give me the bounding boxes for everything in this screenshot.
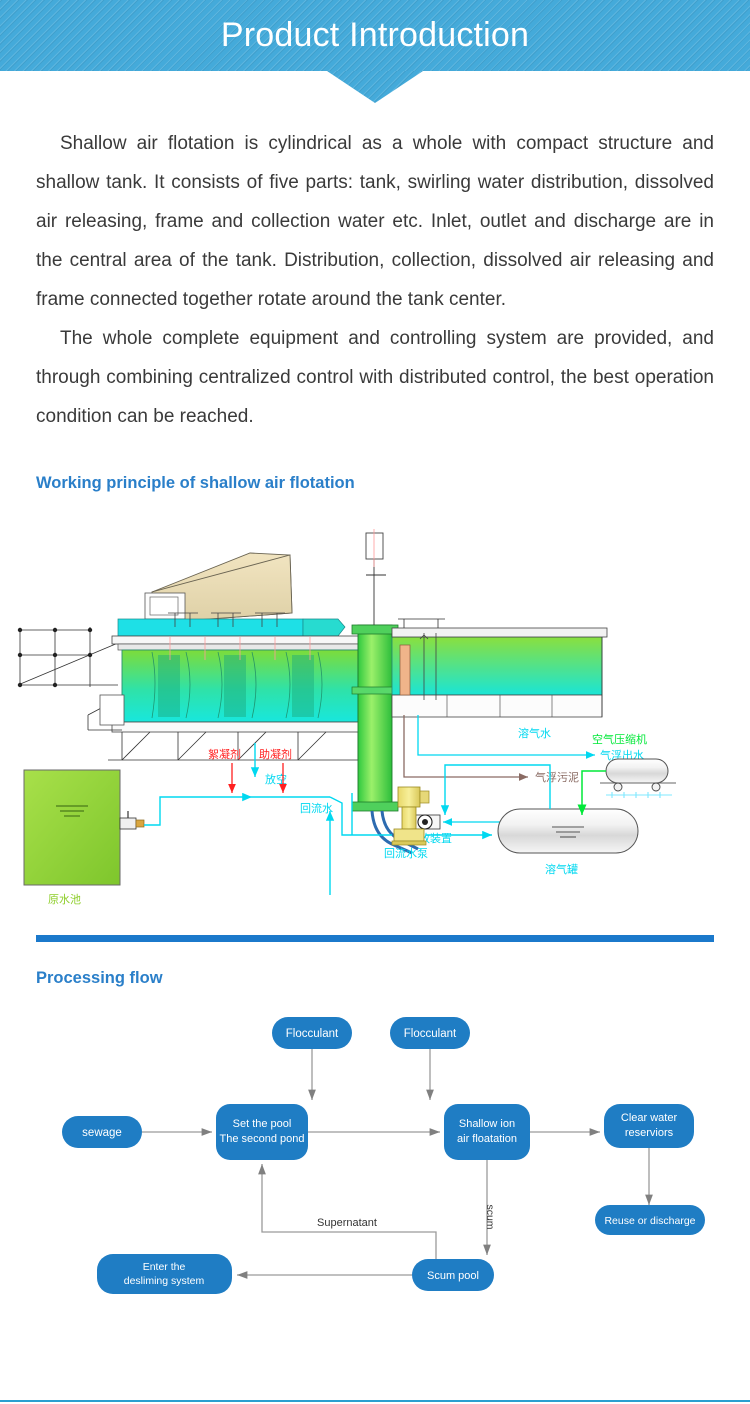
flow-node-label: Reuse or discharge [604, 1215, 695, 1227]
processing-flow-diagram: scum Supernatant sewage Set the pool The… [0, 1004, 750, 1324]
label-vent: 放空 [265, 772, 287, 786]
flow-node-label: Scum pool [427, 1270, 479, 1282]
label-return-water: 回流水 [300, 801, 333, 815]
intro-paragraph-2: The whole complete equipment and control… [36, 319, 714, 436]
flow-node-clear-water-reserviors[interactable]: Clear water reserviors [604, 1104, 694, 1148]
intro-text-block: Shallow air flotation is cylindrical as … [36, 124, 714, 436]
flow-node-label-line2: desliming system [124, 1275, 205, 1287]
label-coagulant-aid-cn: 助凝剂 [259, 747, 292, 761]
flow-node-set-the-pool[interactable]: Set the pool The second pond [216, 1104, 308, 1160]
air-compressor-icon [600, 759, 676, 798]
flow-node-label: sewage [82, 1127, 122, 1139]
flow-node-label-line2: The second pond [219, 1133, 304, 1145]
label-air-compressor: 空气压缩机 [592, 732, 647, 746]
flow-node-label-line1: Set the pool [233, 1118, 292, 1130]
principle-diagram-svg: 放空 气浮出水 气浮污泥 回流水 释放装置 原水池 [0, 515, 750, 935]
working-principle-heading: Working principle of shallow air flotati… [36, 474, 750, 493]
edge-label-scum: scum [484, 1204, 496, 1229]
flow-node-reuse-or-discharge[interactable]: Reuse or discharge [595, 1205, 705, 1235]
flow-node-flocculant-2[interactable]: Flocculant [390, 1017, 470, 1049]
processing-flow-svg: scum Supernatant sewage Set the pool The… [0, 1004, 750, 1324]
label-sludge: 气浮污泥 [535, 770, 579, 784]
flow-node-shallow-ion-air-floatation[interactable]: Shallow ion air floatation [444, 1104, 530, 1160]
label-dissolved-air-tank: 溶气罐 [545, 862, 578, 876]
processing-flow-heading: Processing flow [36, 969, 750, 988]
principle-diagram: 放空 气浮出水 气浮污泥 回流水 释放装置 原水池 [0, 515, 750, 935]
label-flocculant-cn: 絮凝剂 [208, 747, 241, 761]
flow-node-sewage[interactable]: sewage [62, 1116, 142, 1148]
footer-divider [0, 1400, 750, 1402]
flow-node-label: Flocculant [404, 1028, 457, 1040]
page-header: Product Introduction [0, 0, 750, 71]
flow-node-scum-pool[interactable]: Scum pool [412, 1259, 494, 1291]
flow-node-flocculant-1[interactable]: Flocculant [272, 1017, 352, 1049]
section-divider-bar [36, 935, 714, 942]
intro-paragraph-1: Shallow air flotation is cylindrical as … [36, 124, 714, 319]
page-title: Product Introduction [221, 18, 529, 54]
edge-label-supernatant: Supernatant [317, 1217, 377, 1229]
flow-node-label-line1: Clear water [621, 1112, 678, 1124]
product-introduction-page: Product Introduction Shallow air flotati… [0, 0, 750, 1404]
dissolved-air-tank-icon [498, 809, 638, 853]
label-raw-water-tank: 原水池 [48, 893, 81, 906]
flow-node-label-line2: reserviors [625, 1127, 674, 1139]
flow-node-label-line2: air floatation [457, 1133, 517, 1145]
label-return-water-pump: 回流水泵 [384, 846, 428, 860]
flow-node-label-line1: Enter the [143, 1261, 186, 1273]
flow-node-enter-desliming-system[interactable]: Enter the desliming system [97, 1254, 232, 1294]
flow-node-label: Flocculant [286, 1028, 339, 1040]
label-dissolved-air-water: 溶气水 [518, 726, 551, 740]
flow-node-label-line1: Shallow ion [459, 1118, 515, 1130]
